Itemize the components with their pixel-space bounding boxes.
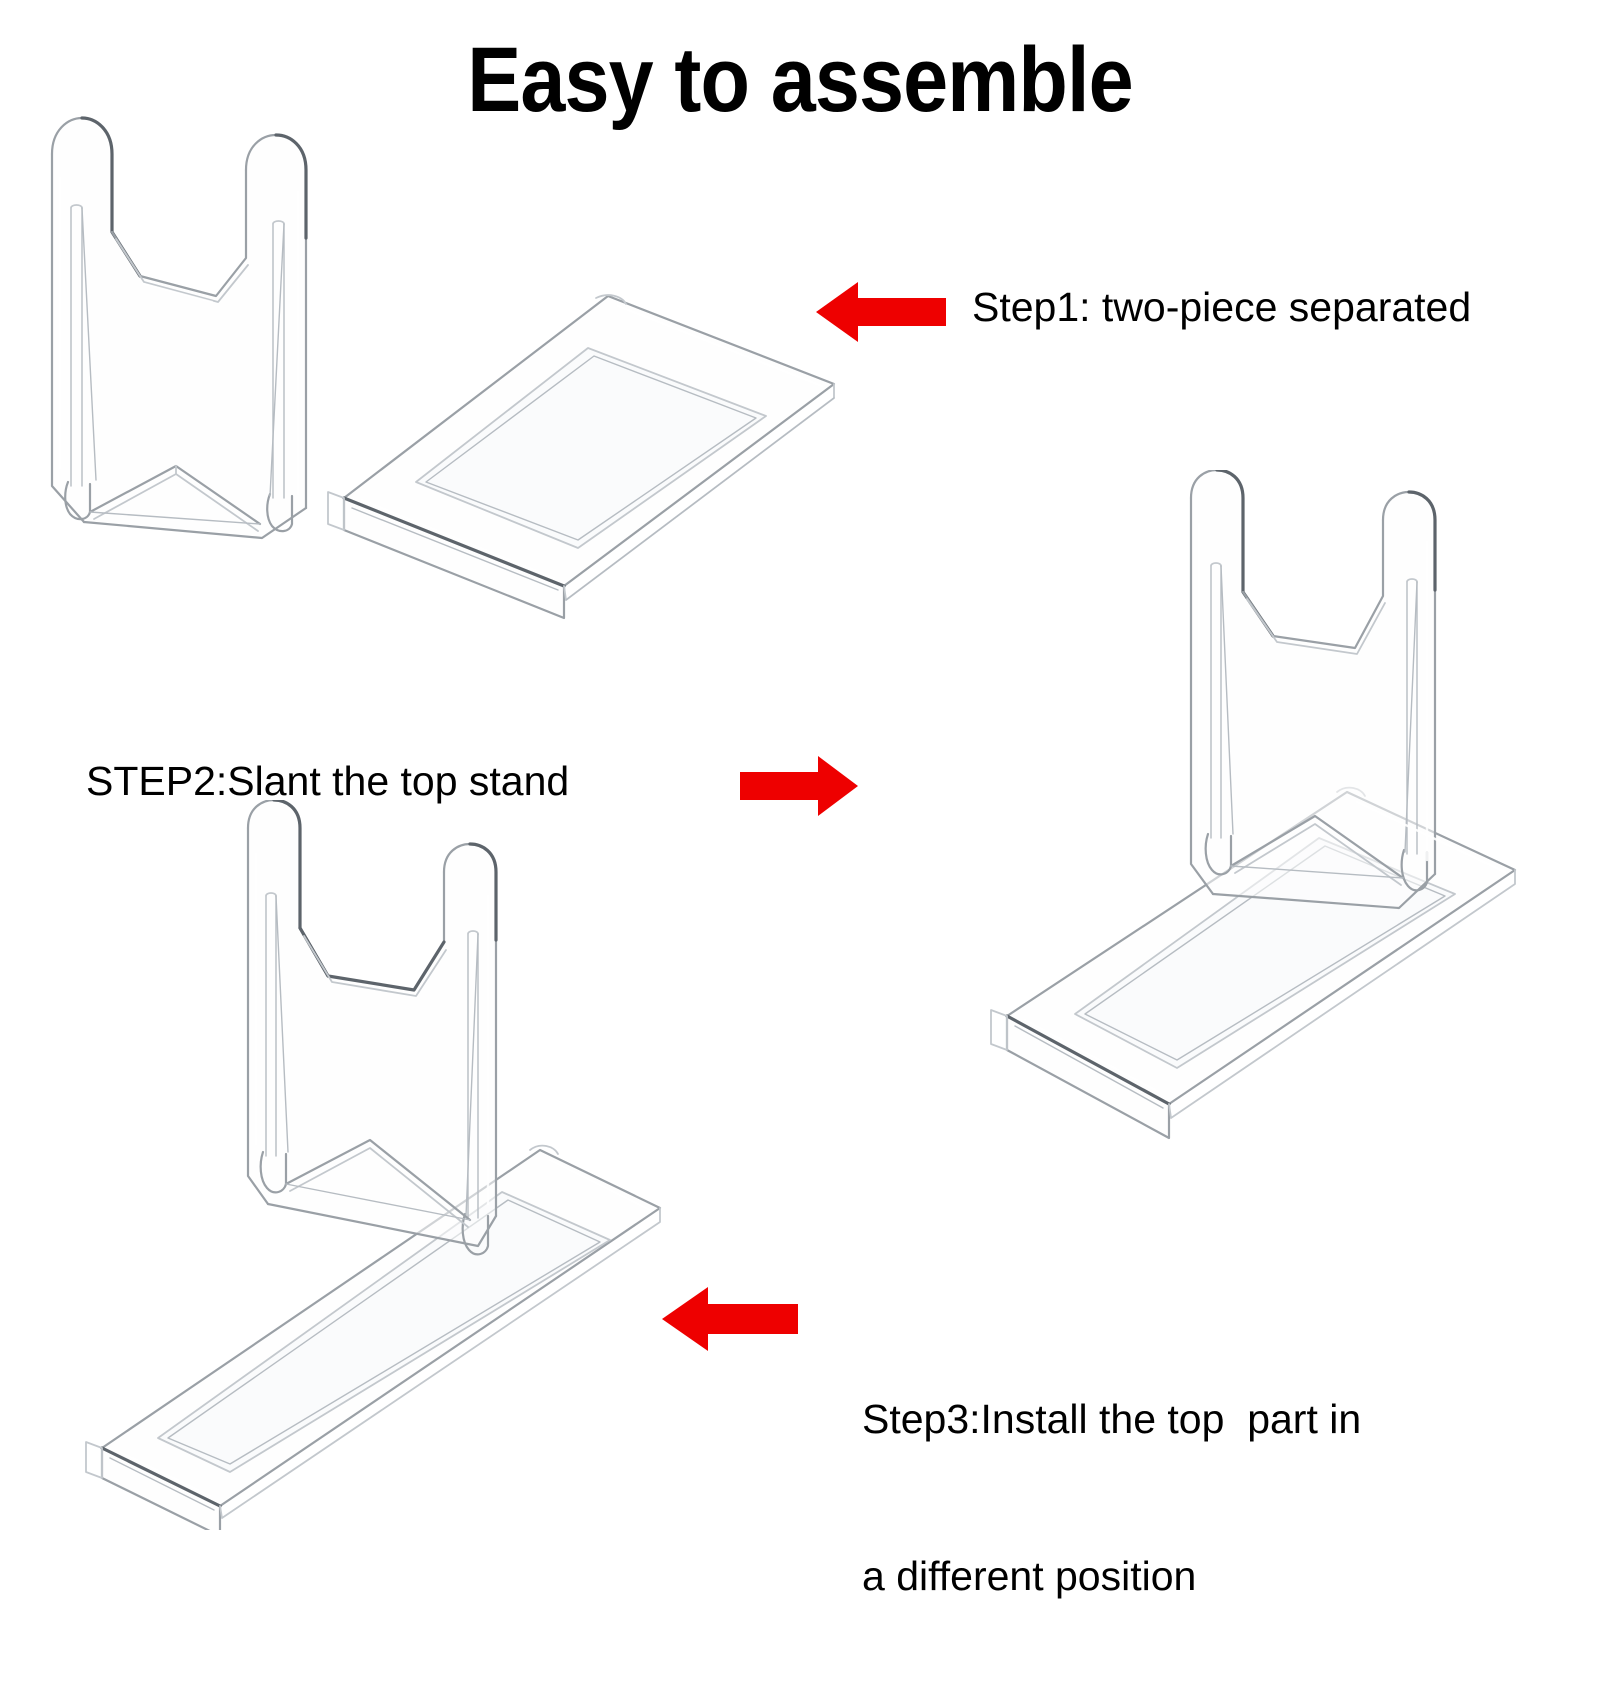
illustration-top-stand-piece	[24, 108, 354, 598]
step3-label: Step3:Install the top part in a differen…	[862, 1288, 1361, 1708]
arrow-right-icon-step2	[740, 755, 858, 817]
step2-label: STEP2:Slant the top stand	[86, 755, 569, 807]
arrow-left-icon-step1	[816, 281, 946, 343]
step3-label-line1: Step3:Install the top part in	[862, 1393, 1361, 1445]
illustration-assembled-upright	[955, 470, 1525, 1170]
step3-label-line2: a different position	[862, 1550, 1361, 1602]
step1-label: Step1: two-piece separated	[972, 281, 1471, 333]
illustration-assembled-slanted	[70, 800, 670, 1530]
arrow-left-icon-step3	[662, 1286, 798, 1352]
illustration-base-tray-piece	[326, 286, 846, 686]
infographic-canvas: Easy to assemble	[0, 0, 1600, 1600]
